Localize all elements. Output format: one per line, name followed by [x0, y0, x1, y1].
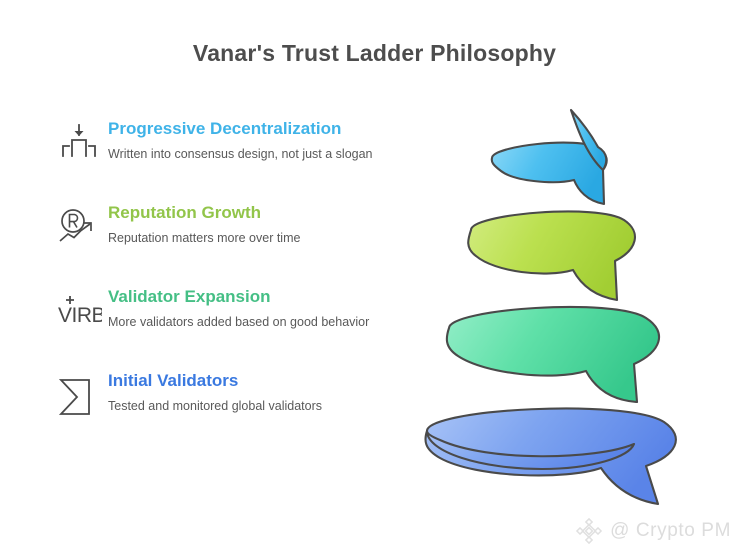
list-item-title: Initial Validators: [108, 370, 402, 392]
watermark: @ Crypto PM: [576, 518, 731, 544]
list-item-title: Progressive Decentralization: [108, 118, 402, 140]
spiral-band-validator-expansion-back: [447, 307, 659, 402]
list-item-description: Written into consensus design, not just …: [108, 146, 383, 163]
diamond-logo-icon: [576, 518, 602, 544]
sigma-bracket-icon: [56, 374, 102, 418]
list-item[interactable]: VIRB Validator Expansion More validators…: [52, 286, 402, 348]
list-item-description: Tested and monitored global validators: [108, 398, 383, 415]
registered-r-growth-arrow-icon: [56, 206, 102, 250]
svg-text:VIRB: VIRB: [58, 304, 102, 327]
watermark-text: @ Crypto PM: [610, 520, 731, 542]
spiral-cone-diagram: [396, 100, 736, 520]
spiral-band-reputation-growth-back: [468, 211, 635, 300]
list-item-description: More validators added based on good beha…: [108, 314, 383, 331]
trust-ladder-list: Progressive Decentralization Written int…: [52, 118, 402, 454]
virb-plus-icon: VIRB: [56, 290, 102, 334]
list-item[interactable]: Progressive Decentralization Written int…: [52, 118, 402, 180]
list-item-title: Validator Expansion: [108, 286, 402, 308]
podium-down-arrow-icon: [56, 122, 102, 166]
list-item-description: Reputation matters more over time: [108, 230, 383, 247]
list-item[interactable]: Initial Validators Tested and monitored …: [52, 370, 402, 432]
page-title: Vanar's Trust Ladder Philosophy: [0, 40, 749, 67]
list-item[interactable]: Reputation Growth Reputation matters mor…: [52, 202, 402, 264]
list-item-title: Reputation Growth: [108, 202, 402, 224]
